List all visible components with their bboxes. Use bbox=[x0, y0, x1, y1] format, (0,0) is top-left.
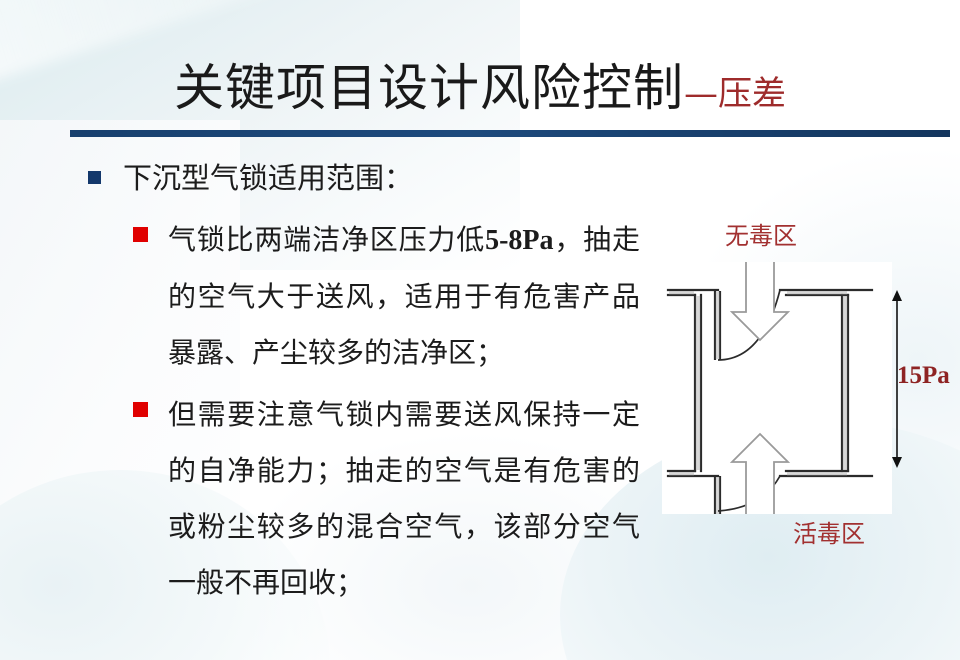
bullet-text-emphasis: 5-8Pa bbox=[485, 225, 553, 256]
square-bullet-navy-icon bbox=[88, 171, 101, 184]
page-title: 关键项目设计风险控制 bbox=[174, 59, 684, 117]
bullet-level2-list: 气锁比两端洁净区压力低5-8Pa，抽走的空气大于送风，适用于有危害产品暴露、产尘… bbox=[133, 212, 663, 617]
airlock-plan-drawing bbox=[662, 262, 892, 514]
bullet-level2-item: 气锁比两端洁净区压力低5-8Pa，抽走的空气大于送风，适用于有危害产品暴露、产尘… bbox=[133, 212, 663, 381]
slide-canvas: 关键项目设计风险控制—压差 下沉型气锁适用范围： 气锁比两端洁净区压力低5-8P… bbox=[0, 0, 960, 660]
diagram-label-bottom: 活毒区 bbox=[793, 519, 865, 549]
bullet-level2-item: 但需要注意气锁内需要送风保持一定的自净能力；抽走的空气是有危害的或粉尘较多的混合… bbox=[133, 387, 663, 611]
bullet-level1: 下沉型气锁适用范围： bbox=[88, 158, 413, 198]
bullet-text-before: 气锁比两端洁净区压力低 bbox=[168, 223, 485, 256]
bullet-level2-paragraph: 气锁比两端洁净区压力低5-8Pa，抽走的空气大于送风，适用于有危害产品暴露、产尘… bbox=[168, 212, 640, 381]
square-bullet-red-icon bbox=[133, 402, 148, 417]
diagram-label-top: 无毒区 bbox=[725, 221, 797, 251]
slide-title: 关键项目设计风险控制—压差 bbox=[0, 52, 960, 130]
bullet-text-before: 但需要注意气锁内需要送风保持一定的自净能力；抽走的空气是有危害的或粉尘较多的混合… bbox=[168, 398, 640, 599]
title-divider bbox=[70, 130, 950, 137]
bullet-level2-paragraph: 但需要注意气锁内需要送风保持一定的自净能力；抽走的空气是有危害的或粉尘较多的混合… bbox=[168, 387, 640, 611]
bullet-level1-label: 下沉型气锁适用范围： bbox=[123, 158, 413, 198]
page-title-subtitle: —压差 bbox=[684, 74, 786, 114]
square-bullet-red-icon bbox=[133, 227, 148, 242]
